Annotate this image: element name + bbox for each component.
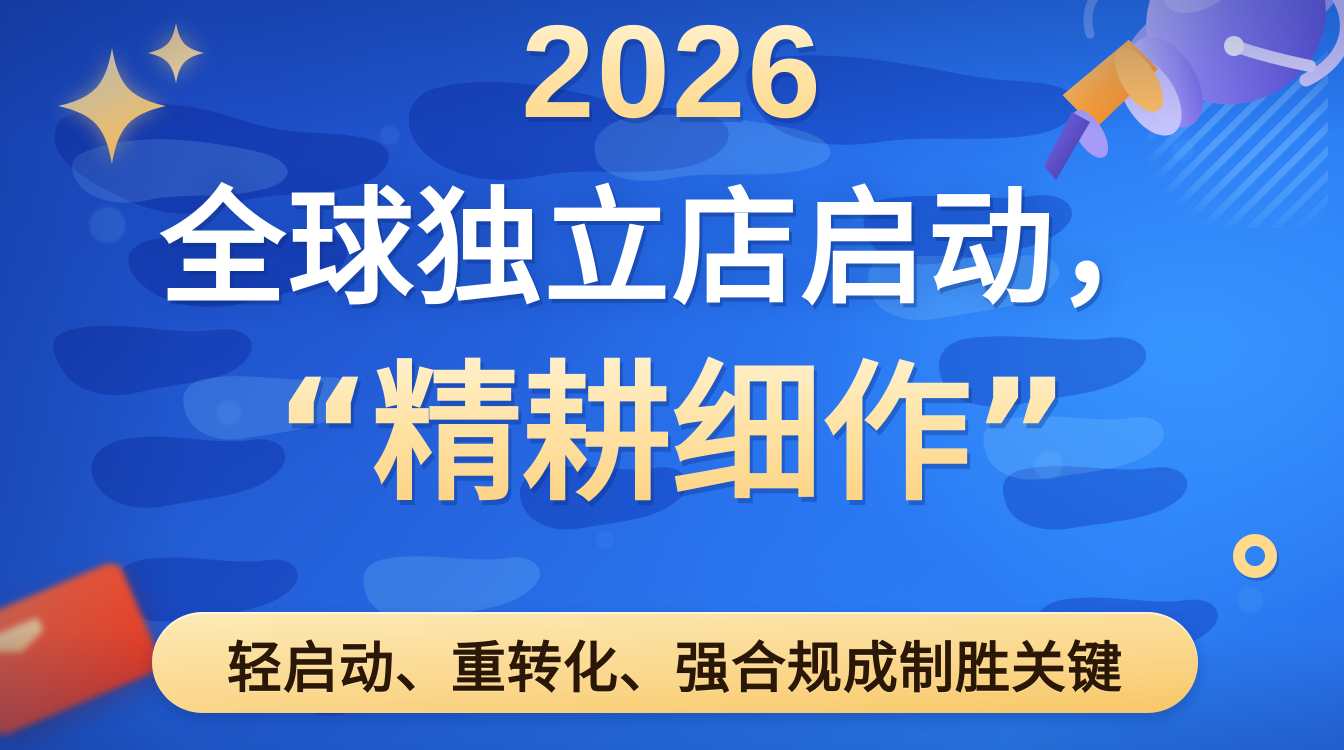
- full-stop-mark: [1233, 534, 1277, 578]
- subtitle-pill[interactable]: 轻启动、重转化、强合规成制胜关键: [152, 612, 1198, 713]
- year-title: 2026: [0, 6, 1344, 138]
- sparkle-star-large: [58, 48, 166, 164]
- headline-line-2: “精耕细作”: [0, 348, 1344, 522]
- envelope-flap-icon: [0, 617, 48, 663]
- red-envelope-decoration: [0, 559, 164, 739]
- banner-content: 2026 全球独立店启动， “精耕细作” 轻启动、重转化、强合规成制胜关键: [0, 0, 1344, 750]
- promo-banner: 2026 全球独立店启动， “精耕细作” 轻启动、重转化、强合规成制胜关键: [0, 0, 1344, 750]
- rocket-pen-illustration: [1038, 0, 1344, 234]
- diagonal-stripes-decoration: [1148, 38, 1328, 228]
- sparkle-star-small: [148, 22, 204, 84]
- subtitle-text: 轻启动、重转化、强合规成制胜关键: [227, 623, 1123, 703]
- headline-line-1: 全球独立店启动，: [0, 176, 1344, 322]
